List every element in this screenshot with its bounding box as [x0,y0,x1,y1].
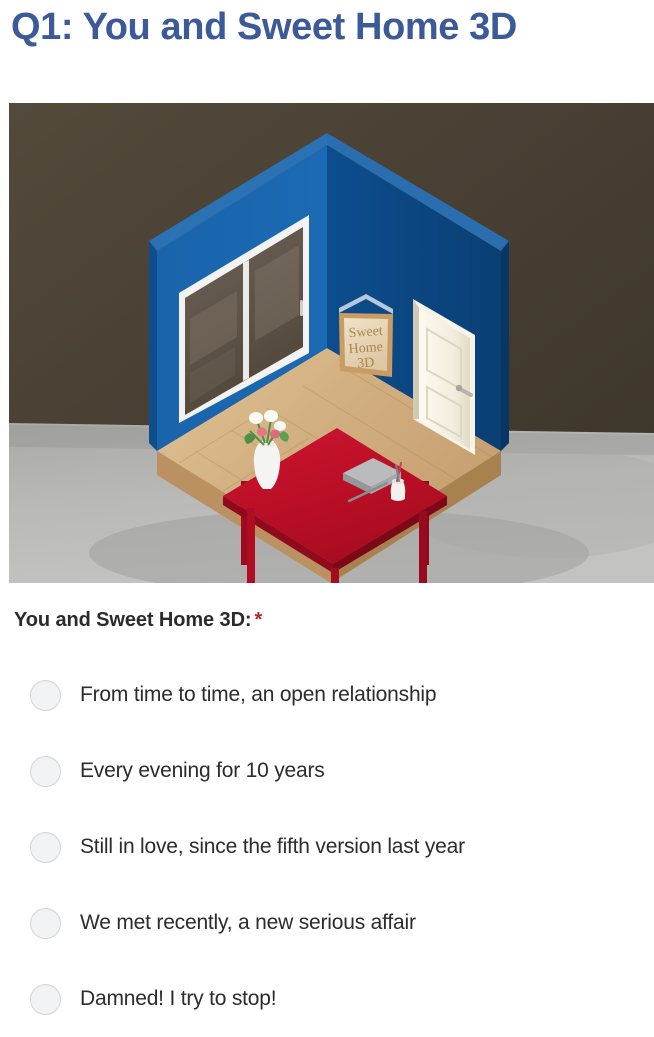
option-row-2[interactable]: Every evening for 10 years [0,733,654,809]
radio-group: From time to time, an open relationship … [0,657,654,1037]
room-render-image: Sweet Home 3D [9,103,654,583]
option-row-1[interactable]: From time to time, an open relationship [0,657,654,733]
option-row-4[interactable]: We met recently, a new serious affair [0,885,654,961]
option-label-1: From time to time, an open relationship [80,683,436,707]
survey-question-page: Q1: You and Sweet Home 3D [0,0,654,1020]
option-label-4: We met recently, a new serious affair [80,911,416,935]
question-label-row: You and Sweet Home 3D:* [14,609,262,632]
radio-button-4[interactable] [30,908,61,939]
room-render-svg: Sweet Home 3D [9,103,654,583]
option-label-2: Every evening for 10 years [80,759,325,783]
radio-button-2[interactable] [30,756,61,787]
required-asterisk: * [254,609,262,631]
option-label-3: Still in love, since the fifth version l… [80,835,465,859]
option-row-3[interactable]: Still in love, since the fifth version l… [0,809,654,885]
page-title: Q1: You and Sweet Home 3D [11,6,651,50]
question-label-text: You and Sweet Home 3D: [14,609,251,631]
sign-line-1: Sweet [348,324,383,341]
radio-button-5[interactable] [30,984,61,1015]
radio-button-3[interactable] [30,832,61,863]
option-label-5: Damned! I try to stop! [80,987,276,1011]
sign-line-3: 3D [357,355,375,371]
sign-line-2: Home [348,340,383,357]
option-row-5[interactable]: Damned! I try to stop! [0,961,654,1037]
radio-button-1[interactable] [30,680,61,711]
